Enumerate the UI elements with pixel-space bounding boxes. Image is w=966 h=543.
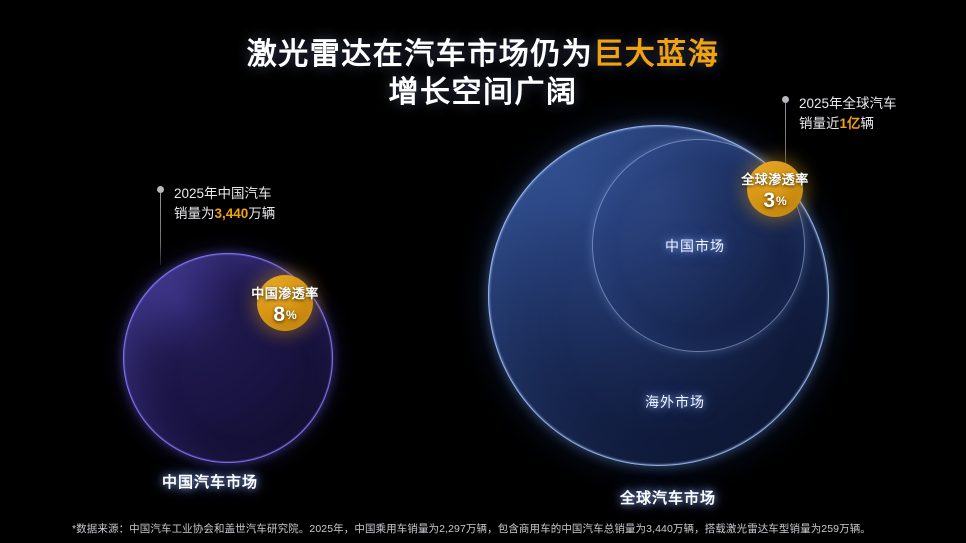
global-callout-line-1: 2025年全球汽车 [799, 94, 897, 114]
title-line-1-prefix: 激光雷达在汽车市场仍为 [247, 38, 594, 71]
china-market-label: 中国汽车市场 [162, 471, 258, 492]
inner-china-market-label: 中国市场 [665, 236, 725, 256]
china-callout-line [160, 193, 161, 265]
title-line-1: 激光雷达在汽车市场仍为巨大蓝海 [0, 36, 966, 74]
global-callout-prefix: 销量近 [799, 116, 840, 131]
china-penetration-badge [257, 275, 313, 331]
title-line-1-accent: 巨大蓝海 [593, 38, 719, 71]
footnote-source: *数据来源：中国汽车工业协会和盖世汽车研究院。2025年，中国乘用车销量为2,2… [72, 521, 871, 536]
china-callout-text: 2025年中国汽车 销量为3,440万辆 [174, 184, 275, 223]
global-market-label: 全球汽车市场 [620, 487, 716, 508]
china-callout-line-2: 销量为3,440万辆 [174, 204, 275, 224]
overseas-market-label: 海外市场 [645, 392, 705, 412]
global-penetration-badge [747, 161, 803, 217]
china-callout-value: 3,440 [215, 206, 249, 221]
global-callout-text: 2025年全球汽车 销量近1亿辆 [799, 94, 897, 133]
china-callout-prefix: 销量为 [174, 206, 215, 221]
china-callout-line-1: 2025年中国汽车 [174, 184, 275, 204]
global-callout-line-2: 销量近1亿辆 [799, 114, 897, 134]
global-callout-value: 1亿 [840, 116, 861, 131]
infographic-slide: 激光雷达在汽车市场仍为巨大蓝海 增长空间广阔 中国汽车市场 2025年中国汽车 … [0, 0, 966, 543]
global-callout-suffix: 辆 [861, 116, 875, 131]
china-callout-suffix: 万辆 [248, 206, 275, 221]
global-callout-dot [782, 96, 789, 103]
china-callout-dot [157, 186, 164, 193]
